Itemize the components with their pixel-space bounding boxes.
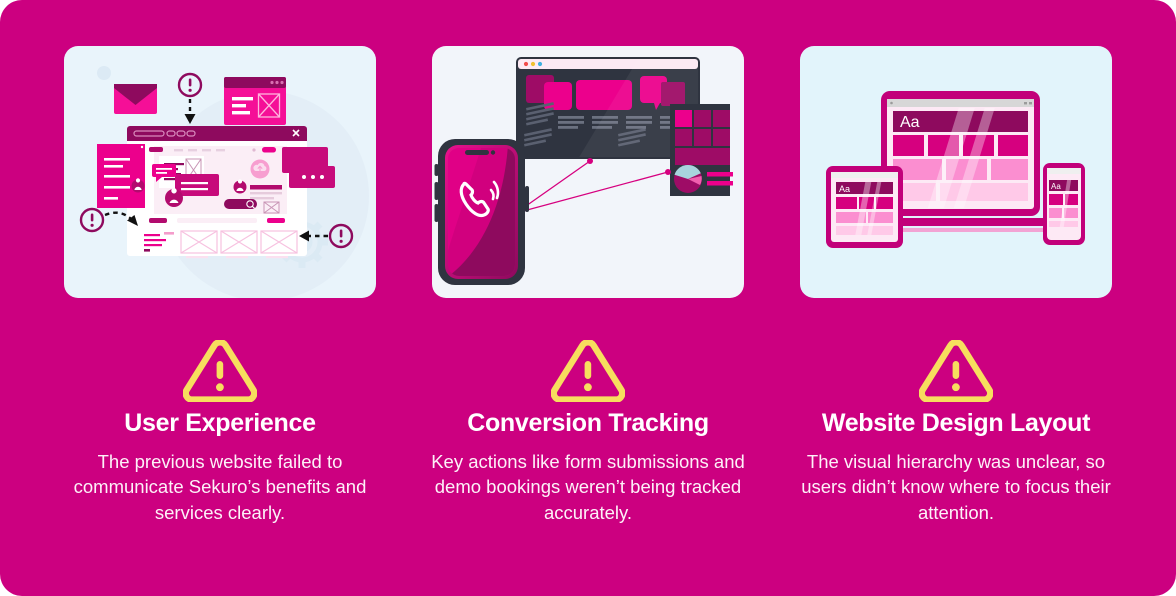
connector-dot-dashboard — [587, 158, 593, 164]
smartphone-device — [435, 139, 530, 285]
warning-triangle-wrap-2 — [551, 340, 625, 402]
warning-triangle-icon — [551, 340, 625, 402]
card-description-conversion-tracking: Key actions like form submissions and de… — [423, 449, 753, 526]
main-browser-window — [97, 126, 307, 258]
tablet-device: Aa — [826, 166, 903, 248]
floating-pink-blocks — [282, 147, 335, 188]
warning-triangle-icon — [919, 340, 993, 402]
card-description-user-experience: The previous website failed to communica… — [60, 449, 380, 526]
typography-label-laptop: Aa — [900, 114, 920, 131]
phone-device: Aa — [1043, 163, 1085, 245]
envelope-icon — [114, 84, 157, 114]
pie-chart-icon — [674, 165, 702, 193]
poster-root: User Experience The previous website fai… — [0, 0, 1176, 596]
card-description-website-design-layout: The visual hierarchy was unclear, so use… — [796, 449, 1116, 526]
analytics-dashboard-illustration-card — [432, 46, 744, 298]
ux-wireframe-illustration — [64, 46, 376, 298]
warning-triangle-icon — [183, 340, 257, 402]
mini-browser-window — [224, 77, 286, 125]
warning-triangle-wrap-3 — [919, 340, 993, 402]
ux-wireframe-illustration-card — [64, 46, 376, 298]
warning-triangle-wrap-1 — [183, 340, 257, 402]
responsive-devices-illustration-card: Aa — [800, 46, 1112, 298]
responsive-devices-illustration: Aa — [800, 46, 1112, 298]
typography-label-phone: Aa — [1051, 182, 1061, 191]
feature-columns: User Experience The previous website fai… — [0, 0, 1176, 596]
connector-lines — [516, 161, 668, 213]
feature-column-conversion-tracking: Conversion Tracking Key actions like for… — [432, 46, 744, 525]
page-title-user-experience: User Experience — [124, 410, 315, 438]
page-title-website-design-layout: Website Design Layout — [822, 410, 1090, 438]
typography-label-tablet: Aa — [839, 184, 850, 194]
connector-dot-analytics — [665, 169, 671, 175]
feature-column-user-experience: User Experience The previous website fai… — [64, 46, 376, 525]
analytics-panel — [670, 104, 733, 196]
page-title-conversion-tracking: Conversion Tracking — [467, 410, 709, 438]
feature-column-website-design-layout: Aa — [800, 46, 1112, 525]
analytics-dashboard-illustration — [432, 46, 744, 298]
